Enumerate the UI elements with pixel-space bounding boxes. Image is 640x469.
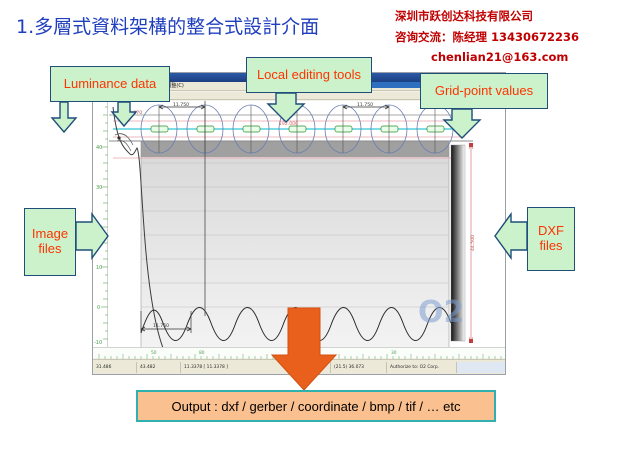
callout-dxf-files-line1: DXF <box>538 224 564 239</box>
callout-dxf-files-line2: files <box>538 239 564 254</box>
svg-text:11.750: 11.750 <box>153 323 169 329</box>
status-y: 43.482 <box>137 362 181 373</box>
status-license: Authorize to: O2 Corp. <box>387 362 457 373</box>
callout-local-editing-tools: Local editing tools <box>246 57 372 93</box>
svg-text:50: 50 <box>151 350 157 356</box>
horizontal-ruler[interactable]: 5080 4030 <box>93 347 505 358</box>
app-status-bar: 31.486 43.482 11.3378 [ 11.3378 ] (21.5)… <box>93 359 505 374</box>
status-x: 31.486 <box>93 362 137 373</box>
company-contact: 咨询交流：陈经理 13430672236 <box>395 29 640 45</box>
callout-image-files-line1: Image <box>32 227 68 242</box>
svg-text:20: 20 <box>96 225 102 231</box>
status-spacer <box>457 362 505 373</box>
svg-text:40: 40 <box>96 145 102 151</box>
callout-luminance-data: Luminance data <box>50 66 170 102</box>
slide-root: 1.多層式資料架構的整合式設計介面 深圳市跃创达科技有限公司 咨询交流：陈经理 … <box>0 0 640 469</box>
company-name: 深圳市跃创达科技有限公司 <box>395 8 640 24</box>
svg-text:30: 30 <box>391 350 397 356</box>
output-formats-box: Output : dxf / gerber / coordinate / bmp… <box>136 390 496 422</box>
app-watermark: O2 <box>418 295 464 330</box>
status-scale: (21.5) 36.073 <box>331 362 387 373</box>
svg-text:40: 40 <box>295 350 301 356</box>
callout-image-files: Image files <box>24 208 76 276</box>
vertical-ruler[interactable]: 40 30 20 10 0 -10 <box>93 101 108 348</box>
dim-label-pitch-bottom: 11.750 <box>357 102 373 108</box>
callout-grid-point-values: Grid-point values <box>420 73 548 109</box>
company-email: chenlian21@163.com <box>431 50 640 64</box>
dim-label-pitch-small: 5.870 <box>129 110 142 116</box>
svg-text:-10: -10 <box>94 340 102 346</box>
connector-line <box>368 82 426 88</box>
svg-text:30: 30 <box>96 185 102 191</box>
dim-label-vertical: 44.500 <box>470 235 476 251</box>
svg-text:80: 80 <box>199 350 205 356</box>
callout-dxf-files: DXF files <box>527 207 575 271</box>
company-info-block: 深圳市跃创达科技有限公司 咨询交流：陈经理 13430672236 chenli… <box>395 8 640 64</box>
status-coords: 11.3378 [ 11.3378 ] <box>181 362 331 373</box>
callout-image-files-line2: files <box>32 242 68 257</box>
dim-label-center: 192.000 <box>279 121 298 127</box>
arrow-luminance-down <box>52 102 76 132</box>
svg-text:10: 10 <box>96 265 102 271</box>
page-title: 1.多層式資料架構的整合式設計介面 <box>16 12 319 39</box>
application-window[interactable]: O2Btools_LGP設計案例-2010- 檔案(F) 編輯(E) 圖形(G)… <box>92 72 506 375</box>
dim-label-pitch-top: 11.750 <box>173 102 189 108</box>
svg-text:0: 0 <box>97 305 100 311</box>
